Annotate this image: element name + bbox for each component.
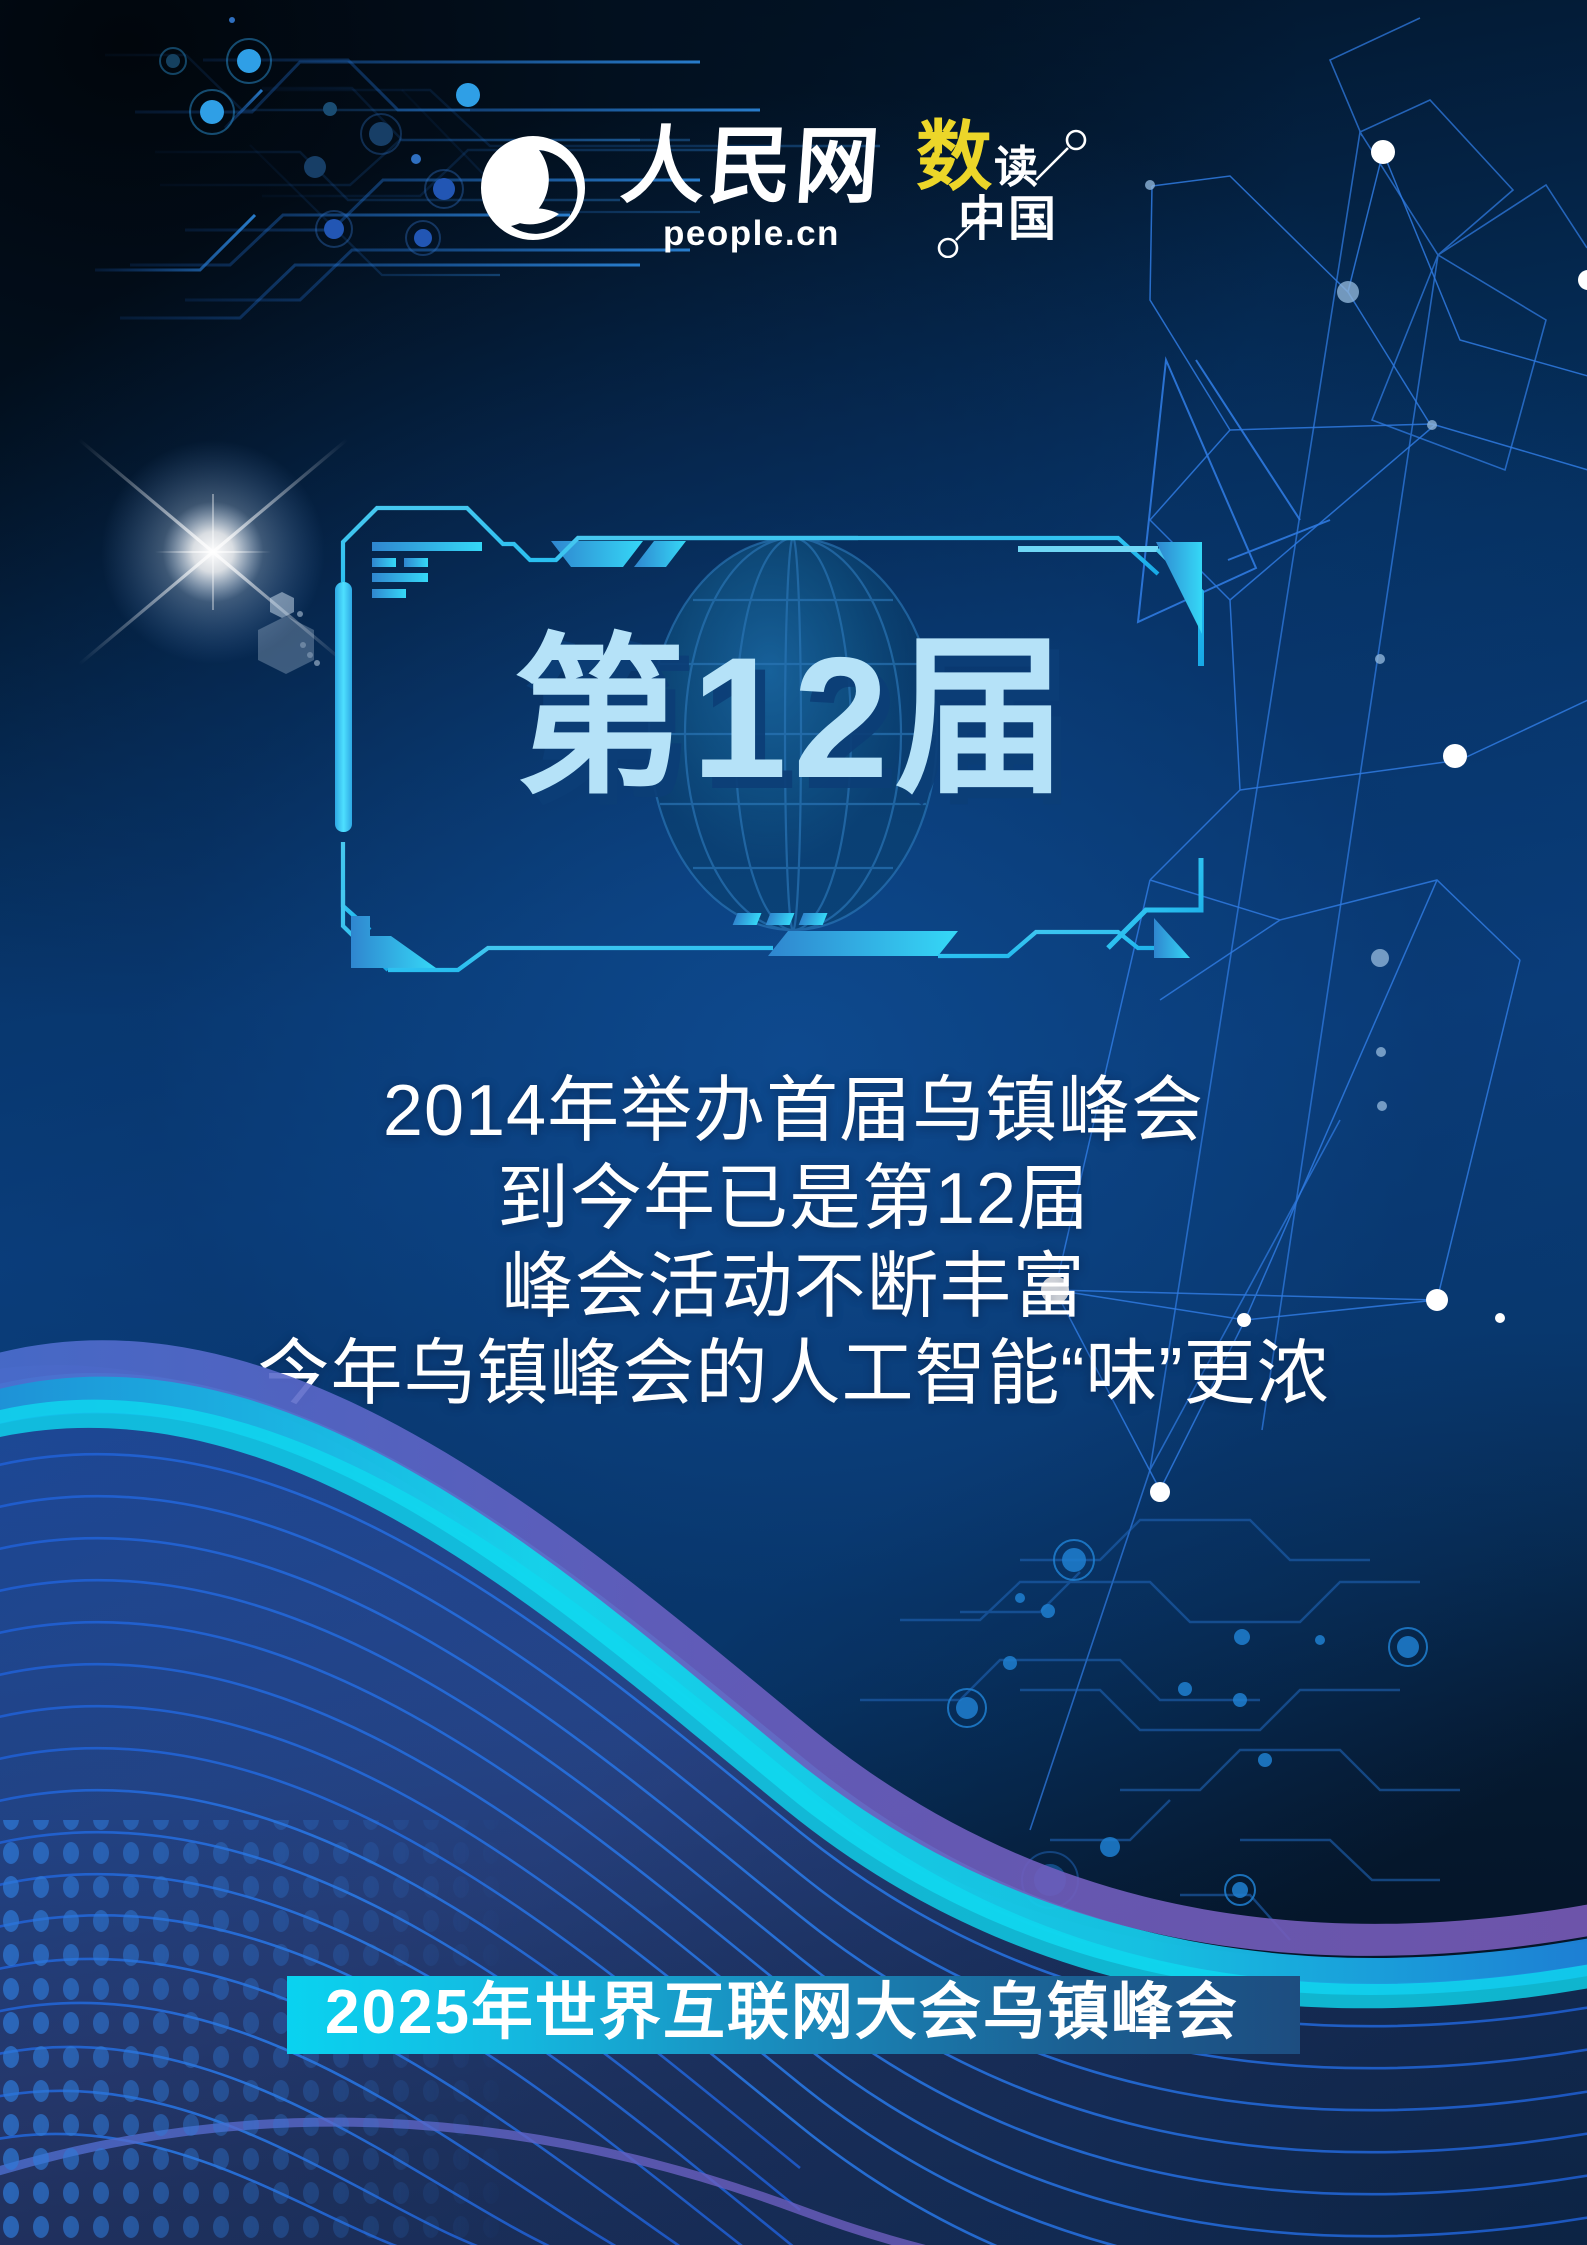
poster-root: 人民网 people.cn 数 读 中国	[0, 0, 1587, 2245]
bottom-banner: 2025年世界互联网大会乌镇峰会	[287, 1976, 1300, 2054]
bottom-banner-text: 2025年世界互联网大会乌镇峰会	[325, 1982, 1239, 2044]
halftone-dots-decoration	[0, 0, 1587, 2245]
